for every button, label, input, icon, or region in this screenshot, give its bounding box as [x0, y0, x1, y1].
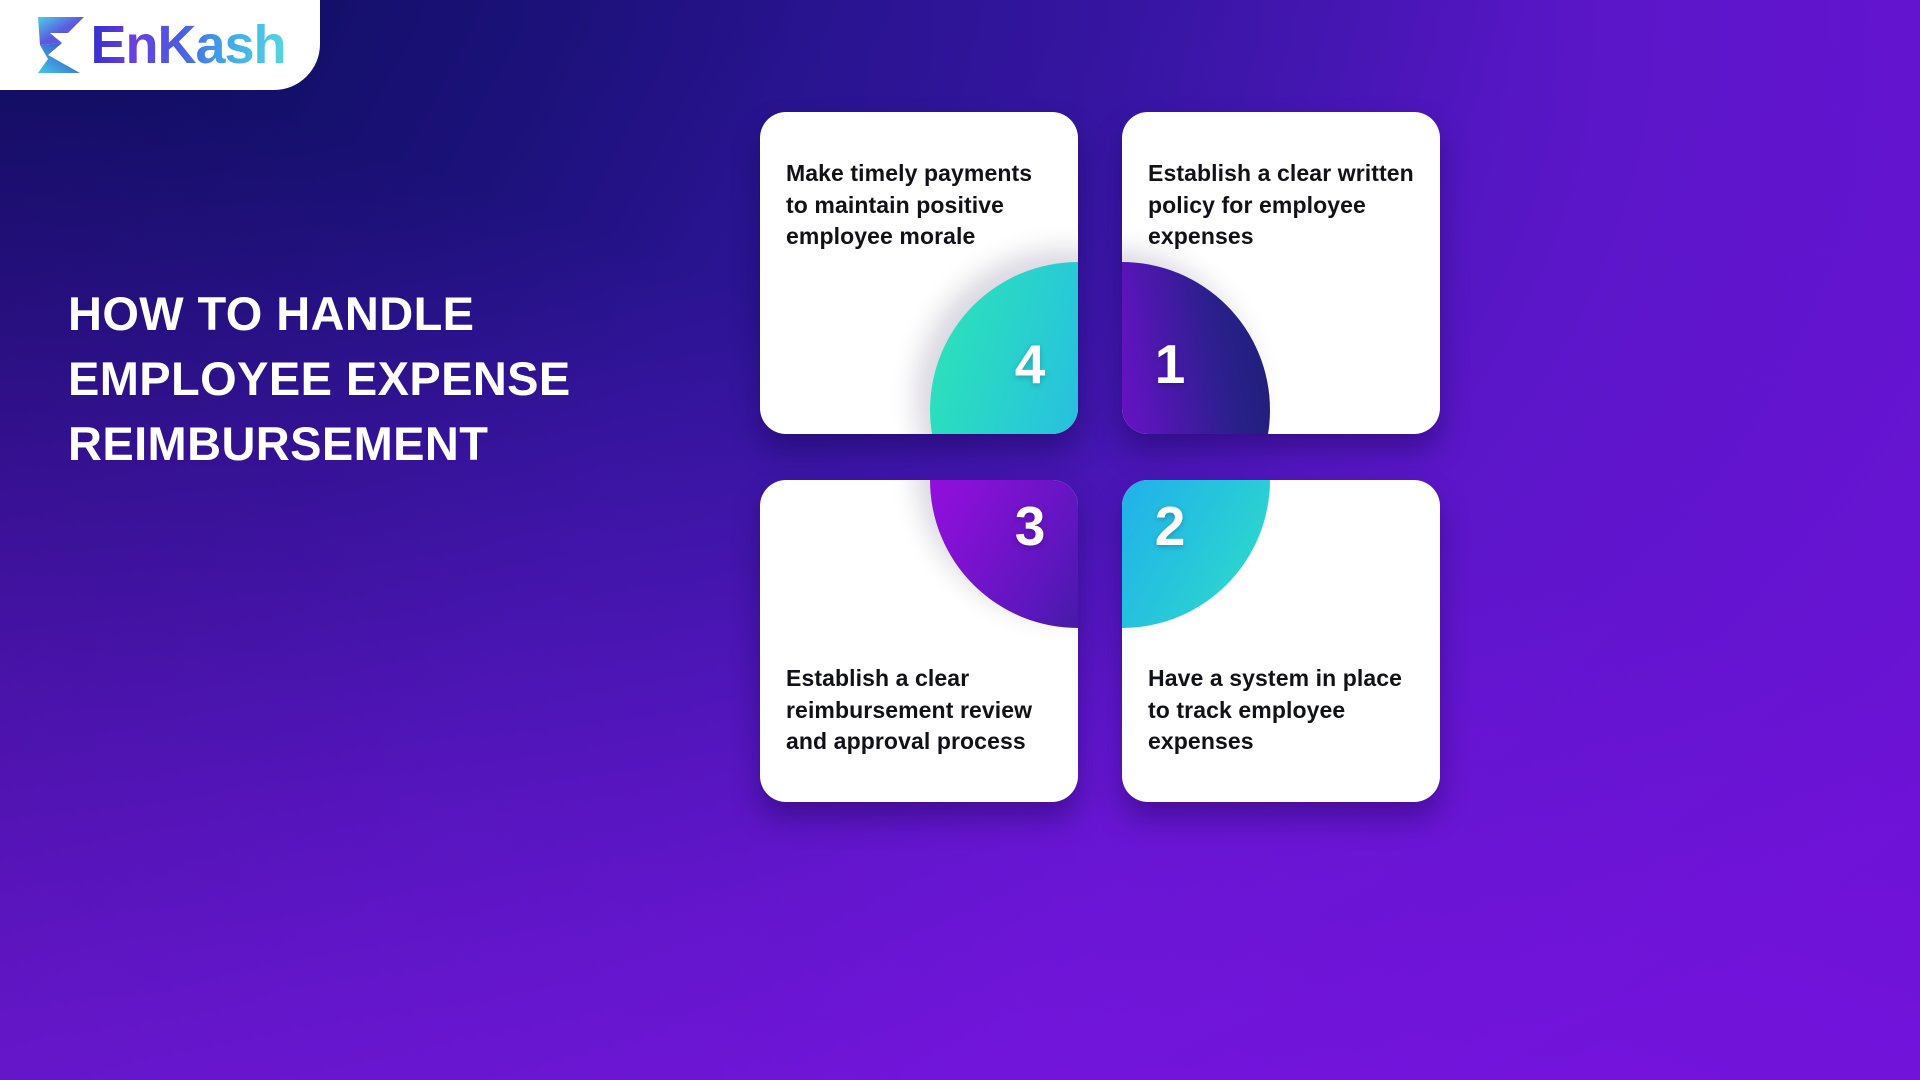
step-number-badge-4: 4: [930, 262, 1078, 434]
steps-grid: Make timely payments to maintain positiv…: [760, 112, 1440, 802]
step-number-2: 2: [1155, 499, 1186, 554]
page-title: HOW TO HANDLE EMPLOYEE EXPENSE REIMBURSE…: [68, 282, 748, 477]
step-card-2[interactable]: Have a system in place to track employee…: [1122, 480, 1440, 802]
brand-logo-wrap: EnKash: [0, 0, 286, 75]
step-card-2-text: Have a system in place to track employee…: [1148, 663, 1418, 758]
enkash-logo-icon: [34, 15, 88, 75]
step-card-4[interactable]: Make timely payments to maintain positiv…: [760, 112, 1078, 434]
brand-logo-badge[interactable]: EnKash: [0, 0, 320, 90]
page-title-line-3: REIMBURSEMENT: [68, 412, 748, 477]
step-card-4-text: Make timely payments to maintain positiv…: [786, 158, 1056, 253]
step-card-3[interactable]: Establish a clear reimbursement review a…: [760, 480, 1078, 802]
step-number-badge-2: 2: [1122, 480, 1270, 628]
brand-name: EnKash: [90, 18, 285, 72]
step-number-1: 1: [1155, 337, 1186, 392]
step-card-1[interactable]: Establish a clear written policy for emp…: [1122, 112, 1440, 434]
page-title-line-2: EMPLOYEE EXPENSE: [68, 347, 748, 412]
step-number-badge-3: 3: [930, 480, 1078, 628]
step-number-4: 4: [1015, 337, 1046, 392]
step-card-3-text: Establish a clear reimbursement review a…: [786, 663, 1056, 758]
step-card-1-text: Establish a clear written policy for emp…: [1148, 158, 1418, 253]
page-title-line-1: HOW TO HANDLE: [68, 282, 748, 347]
step-number-3: 3: [1015, 499, 1046, 554]
step-number-badge-1: 1: [1122, 262, 1270, 434]
